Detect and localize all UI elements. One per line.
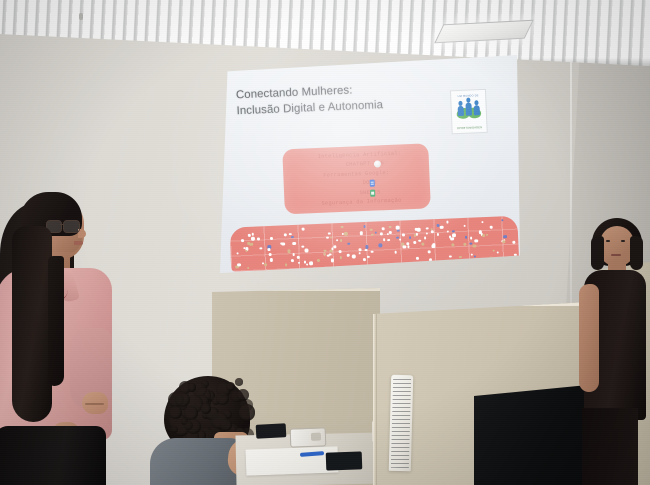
person-figure-icon: [474, 105, 480, 115]
smartphone: [256, 423, 287, 439]
circuit-dot: [417, 228, 421, 232]
circuit-dot: [502, 240, 505, 243]
circuit-dot: [352, 255, 356, 259]
logo-people-figures: [456, 99, 481, 116]
institution-logo: UM MUNDO DE OPORTUNIDADES: [450, 89, 488, 134]
circuit-dot: [257, 238, 260, 241]
circuit-dot: [365, 245, 369, 249]
circuit-dot: [297, 256, 300, 259]
circuit-dot: [436, 233, 439, 236]
circuit-dot: [293, 241, 297, 245]
circuit-dot: [259, 247, 262, 250]
circuit-dot: [304, 249, 308, 253]
circuit-dot: [340, 239, 343, 242]
circuit-dot: [432, 243, 435, 246]
eyeglasses-icon: [46, 220, 82, 232]
circuit-dot: [396, 226, 400, 230]
circuit-dot: [422, 243, 425, 246]
person-figure-icon: [458, 106, 464, 116]
circuit-dot: [270, 237, 273, 240]
hair-curl: [220, 419, 232, 431]
hand-right: [82, 392, 108, 414]
circuit-dot: [267, 248, 270, 251]
lips: [74, 241, 83, 245]
hair-curl: [216, 392, 229, 405]
circuit-dot: [339, 256, 342, 259]
circuit-dot: [309, 261, 313, 265]
hair-curl: [184, 421, 193, 430]
circuit-dot: [292, 253, 295, 256]
circuit-dot: [359, 231, 363, 235]
logo-bottom-text: OPORTUNIDADES: [452, 126, 486, 130]
circuit-dot: [396, 236, 399, 239]
projection-screen: Conectando Mulheres: Inclusão Digital e …: [220, 55, 520, 273]
hair-curl: [170, 426, 178, 434]
circuit-dot: [371, 233, 374, 236]
circuit-dot: [407, 246, 410, 249]
slide-content-box: Inteligência Artificial: CHATGPT 3.5 Fer…: [282, 143, 431, 214]
circuit-dot: [428, 250, 431, 253]
circuit-dot: [389, 231, 392, 234]
circuit-dot: [302, 228, 305, 231]
note-text-lines: [391, 378, 411, 468]
circuit-dot: [359, 248, 362, 251]
circuit-dot: [451, 243, 454, 246]
hair-curl: [237, 389, 249, 401]
arm: [579, 284, 599, 392]
circuit-dot: [347, 242, 350, 245]
hair-curl: [188, 383, 196, 391]
circuit-dot: [424, 237, 427, 240]
black-skirt: [0, 426, 106, 485]
circuit-dot: [469, 242, 472, 245]
slide-content-lines: Inteligência Artificial: CHATGPT 3.5 Fer…: [282, 143, 431, 214]
hair-curl: [201, 403, 212, 414]
google-docs-icon: [370, 180, 375, 187]
circuit-dot: [415, 233, 418, 236]
dark-case: [326, 451, 363, 470]
circuit-dot: [380, 232, 383, 235]
circuit-dot: [330, 259, 334, 263]
circuit-dot: [416, 257, 419, 260]
circuit-dot: [490, 226, 493, 229]
circuit-dot: [291, 259, 294, 262]
circuit-dot: [363, 258, 366, 261]
hair-strand: [48, 256, 64, 386]
white-device: [290, 427, 327, 447]
circuit-dot: [512, 241, 515, 244]
circuit-dot: [269, 258, 273, 262]
circuit-dot: [344, 232, 348, 236]
circuit-dot: [470, 237, 473, 240]
circuit-dot: [333, 246, 336, 249]
circuit-dot: [241, 239, 244, 242]
slide-title: Conectando Mulheres: Inclusão Digital e …: [236, 78, 452, 119]
circuit-dot: [474, 239, 478, 243]
hair-front: [12, 226, 52, 422]
lens-right: [63, 220, 80, 233]
presenter: [0, 196, 122, 485]
circuit-dot: [317, 259, 320, 262]
google-sheets-icon: [370, 189, 375, 196]
circuit-dot: [365, 249, 368, 252]
hair-curl: [239, 404, 256, 421]
circuit-dot: [339, 250, 342, 253]
circuit-dot: [431, 231, 434, 234]
circuit-dot: [394, 251, 397, 254]
circuit-dot: [449, 255, 452, 258]
circuit-dot: [482, 234, 485, 237]
hair-side-left: [591, 236, 604, 270]
panel-seam: [373, 314, 377, 485]
circuit-dot: [251, 237, 255, 241]
person-figure-icon: [465, 102, 472, 115]
circuit-dot: [378, 244, 382, 248]
attendee-standing: [578, 218, 650, 485]
circuit-dot: [402, 234, 405, 237]
hair-curl: [235, 378, 242, 385]
circuit-dot: [413, 241, 416, 244]
circuit-dot: [382, 228, 385, 231]
circuit-dot: [248, 234, 251, 237]
taped-paper-note: [389, 375, 414, 472]
classroom-photo-scene: Conectando Mulheres: Inclusão Digital e …: [0, 0, 650, 485]
circuit-dot: [287, 249, 291, 253]
head: [600, 226, 634, 266]
slide-content: Conectando Mulheres: Inclusão Digital e …: [220, 55, 520, 273]
papers: [246, 446, 339, 475]
circuit-dot: [328, 232, 331, 235]
lower-body: [582, 408, 638, 485]
circuit-dot: [264, 263, 267, 266]
hair-side-right: [630, 236, 643, 270]
circuit-dot: [446, 221, 449, 224]
